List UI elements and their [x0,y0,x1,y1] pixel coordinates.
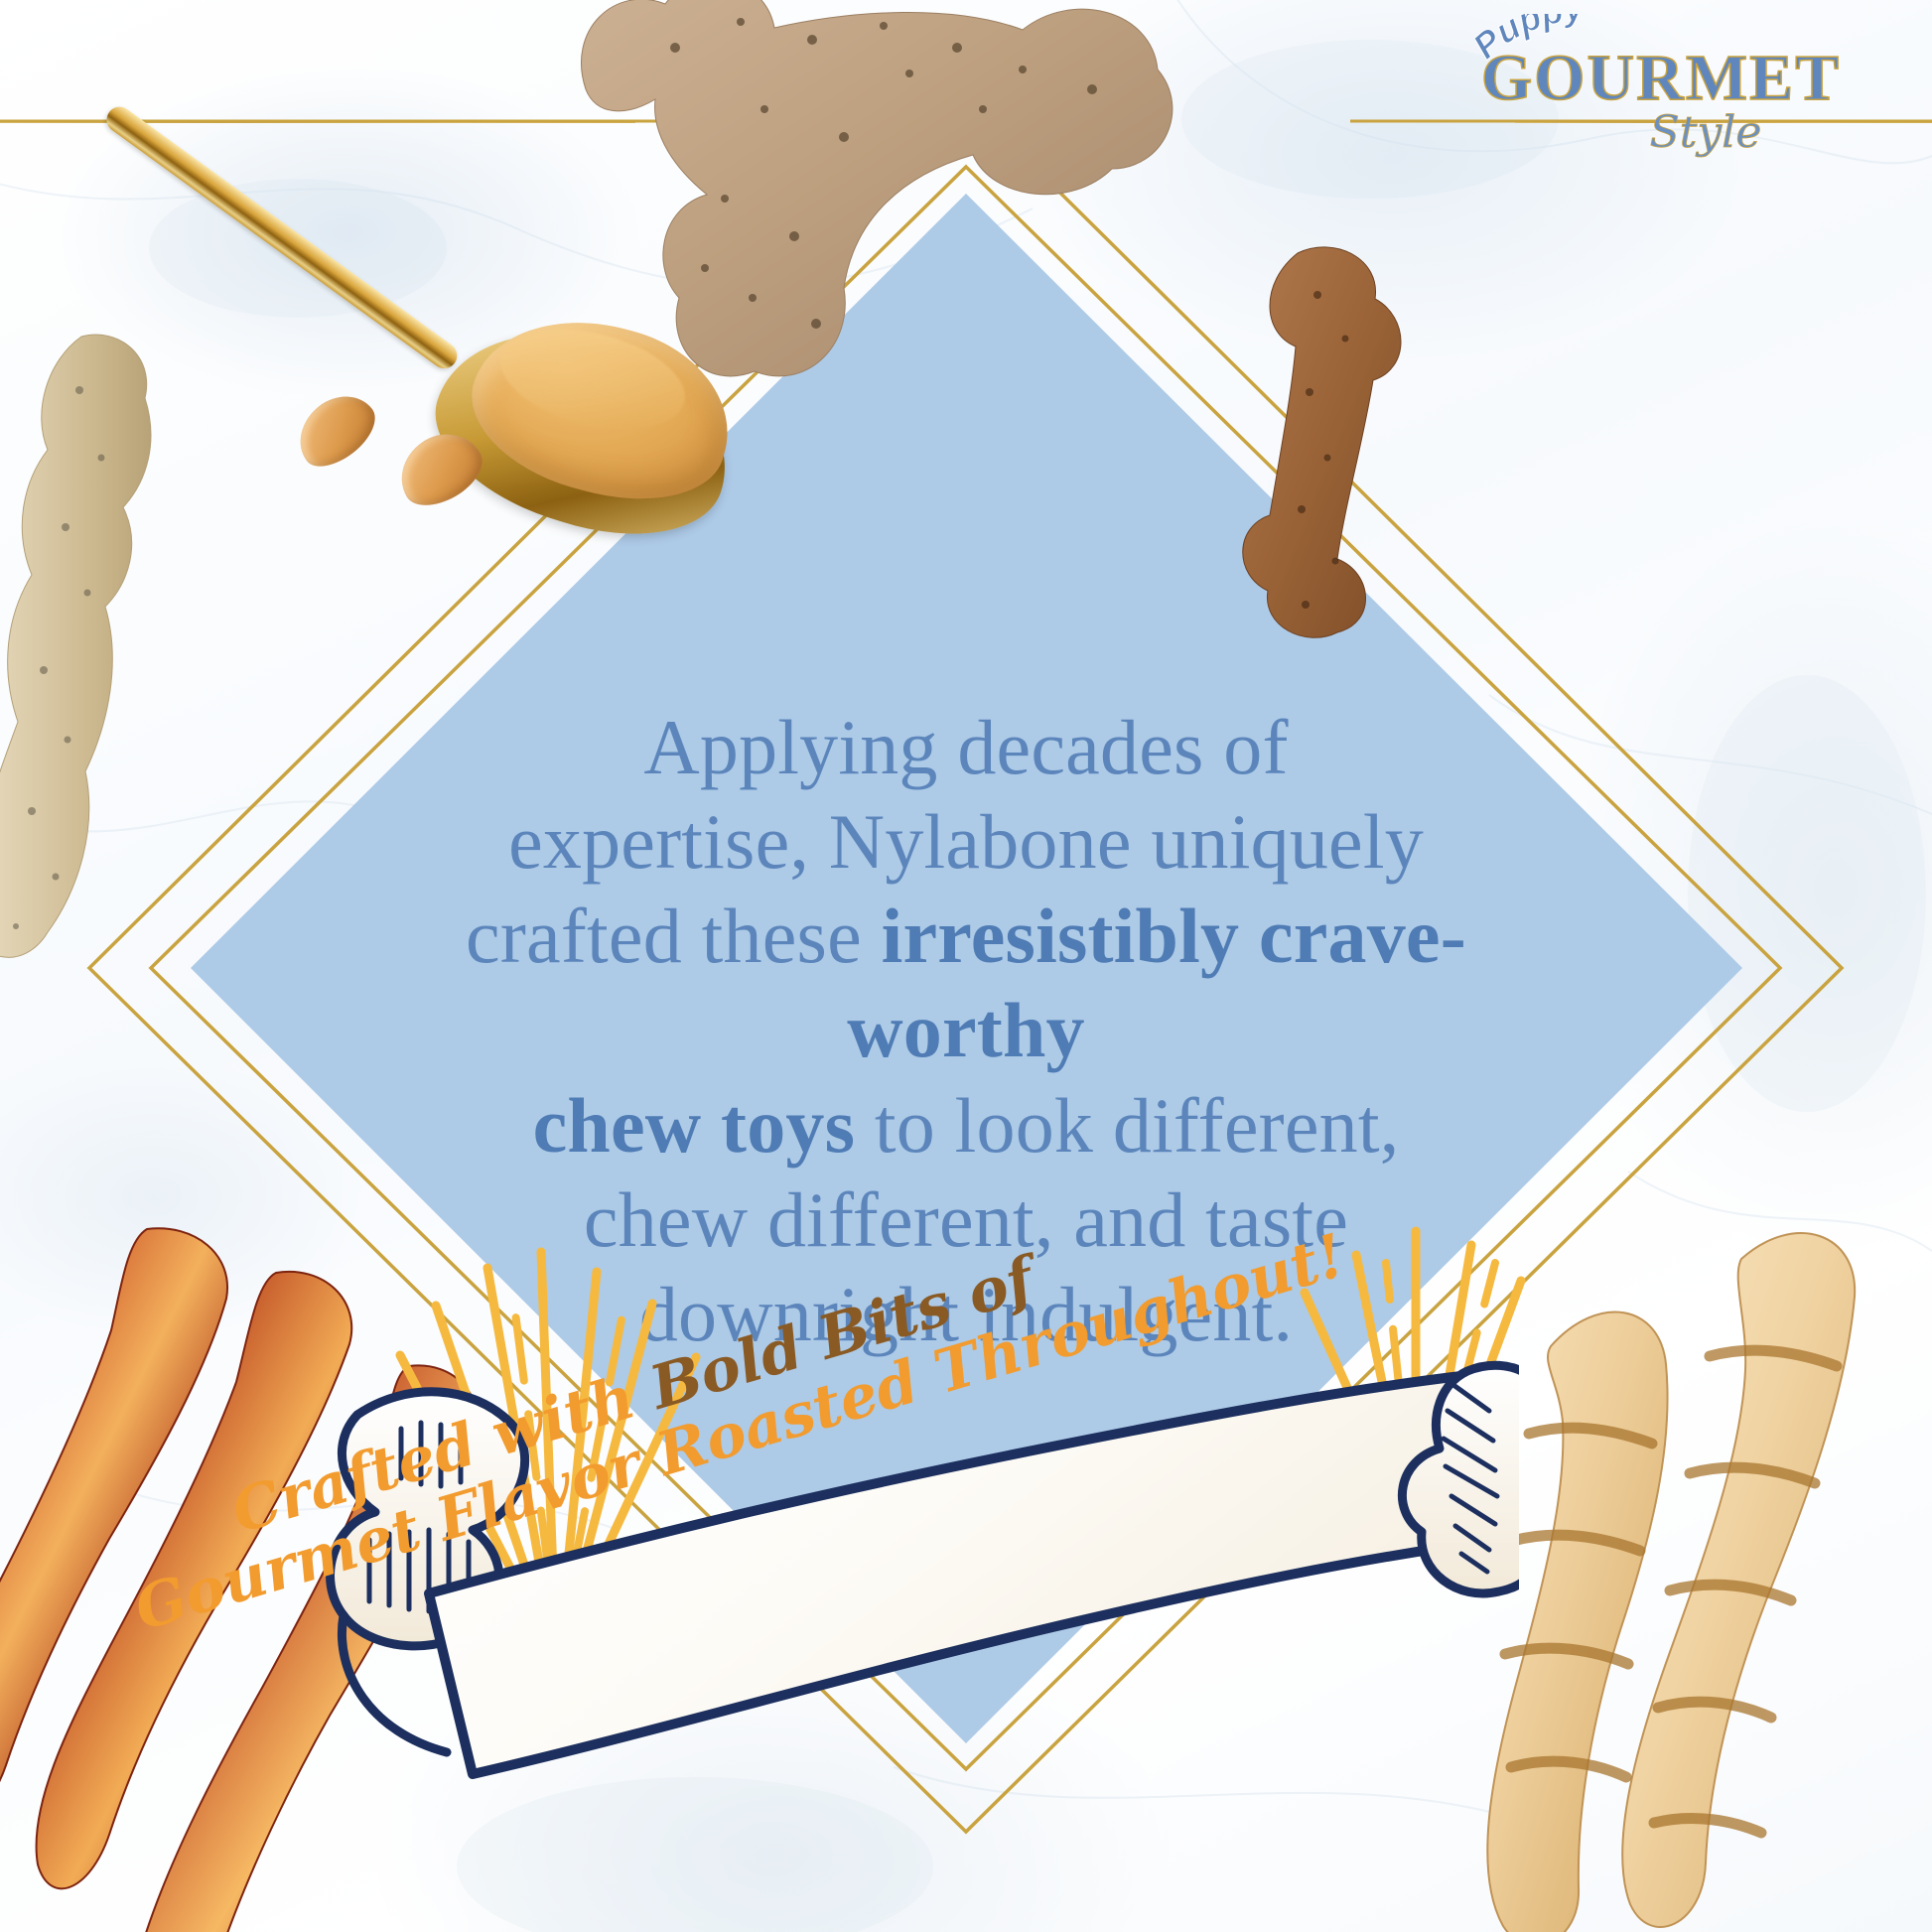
headline-line-2: expertise, Nylabone uniquely [380,794,1552,889]
logo-style-text: Style [1650,107,1762,158]
logo-gourmet-text: GOURMET [1448,46,1874,111]
headline-line-4: chew toys to look different, [380,1078,1552,1173]
ad-canvas: Applying decades of expertise, Nylabone … [0,0,1932,1932]
headline-line-4-bold: chew toys [533,1082,856,1169]
ribbon-main-band [429,1375,1499,1774]
headline-line-4-suffix: to look different, [855,1082,1399,1169]
headline-line-5: chew different, and taste [380,1173,1552,1267]
headline-line-3-prefix: crafted these [466,893,882,979]
brand-logo: Puppy GOURMET Style [1448,10,1874,159]
ribbon-banner [298,1345,1519,1812]
headline-line-1: Applying decades of [380,700,1552,794]
headline-line-3: crafted these irresistibly crave-worthy [380,889,1552,1077]
headline-line-3-bold: irresistibly crave-worthy [847,893,1466,1073]
spoon-handle [101,101,462,373]
logo-style-script: Style [1596,105,1815,159]
main-headline-copy: Applying decades of expertise, Nylabone … [380,700,1552,1361]
brown-chew-bone-icon [1206,243,1435,640]
